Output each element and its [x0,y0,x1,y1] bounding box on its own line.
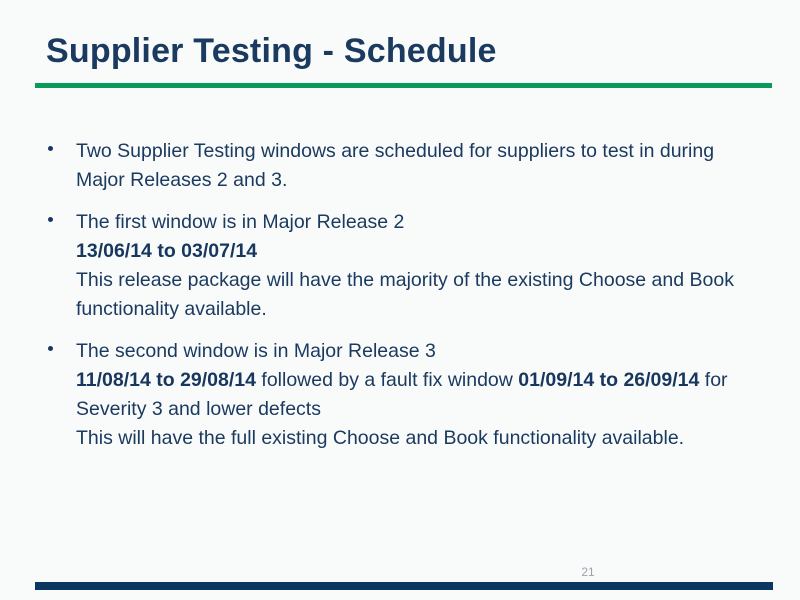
first-window-heading: The first window is in Major Release 2 [76,208,764,237]
page-title: Supplier Testing - Schedule [46,32,497,71]
second-window-note: This will have the full existing Choose … [76,424,764,453]
slide-canvas: Supplier Testing - Schedule Two Supplier… [0,0,800,600]
bullet-dot-icon [48,217,53,222]
bullet-dot-icon [48,146,53,151]
text-run: The second window is in Major Release 3 [76,340,436,362]
title-accent-rule [35,83,772,88]
text-run-bold: 01/09/14 to 26/09/14 [518,369,699,391]
overview-line: Two Supplier Testing windows are schedul… [76,137,764,195]
slide-number: 21 [560,565,616,579]
first-window-dates: 13/06/14 to 03/07/14 [76,237,764,266]
text-run-bold: 11/08/14 to 29/08/14 [76,369,256,391]
text-run: Two Supplier Testing windows are schedul… [76,140,714,191]
text-run-bold: 13/06/14 to 03/07/14 [76,240,257,262]
bullet-dot-icon [48,346,53,351]
first-window-note: This release package will have the major… [76,266,764,324]
text-run: This release package will have the major… [76,269,734,320]
text-run: The first window is in Major Release 2 [76,211,404,233]
second-window-dates: 11/08/14 to 29/08/14 followed by a fault… [76,366,764,424]
text-run: followed by a fault fix window [256,369,518,391]
slide-body: Two Supplier Testing windows are schedul… [44,137,764,453]
bullet-second-window: The second window is in Major Release 31… [44,337,764,453]
text-run: This will have the full existing Choose … [76,427,684,449]
bullet-overview: Two Supplier Testing windows are schedul… [44,137,764,195]
footer-bar [35,582,773,590]
second-window-heading: The second window is in Major Release 3 [76,337,764,366]
bullet-first-window: The first window is in Major Release 213… [44,208,764,324]
